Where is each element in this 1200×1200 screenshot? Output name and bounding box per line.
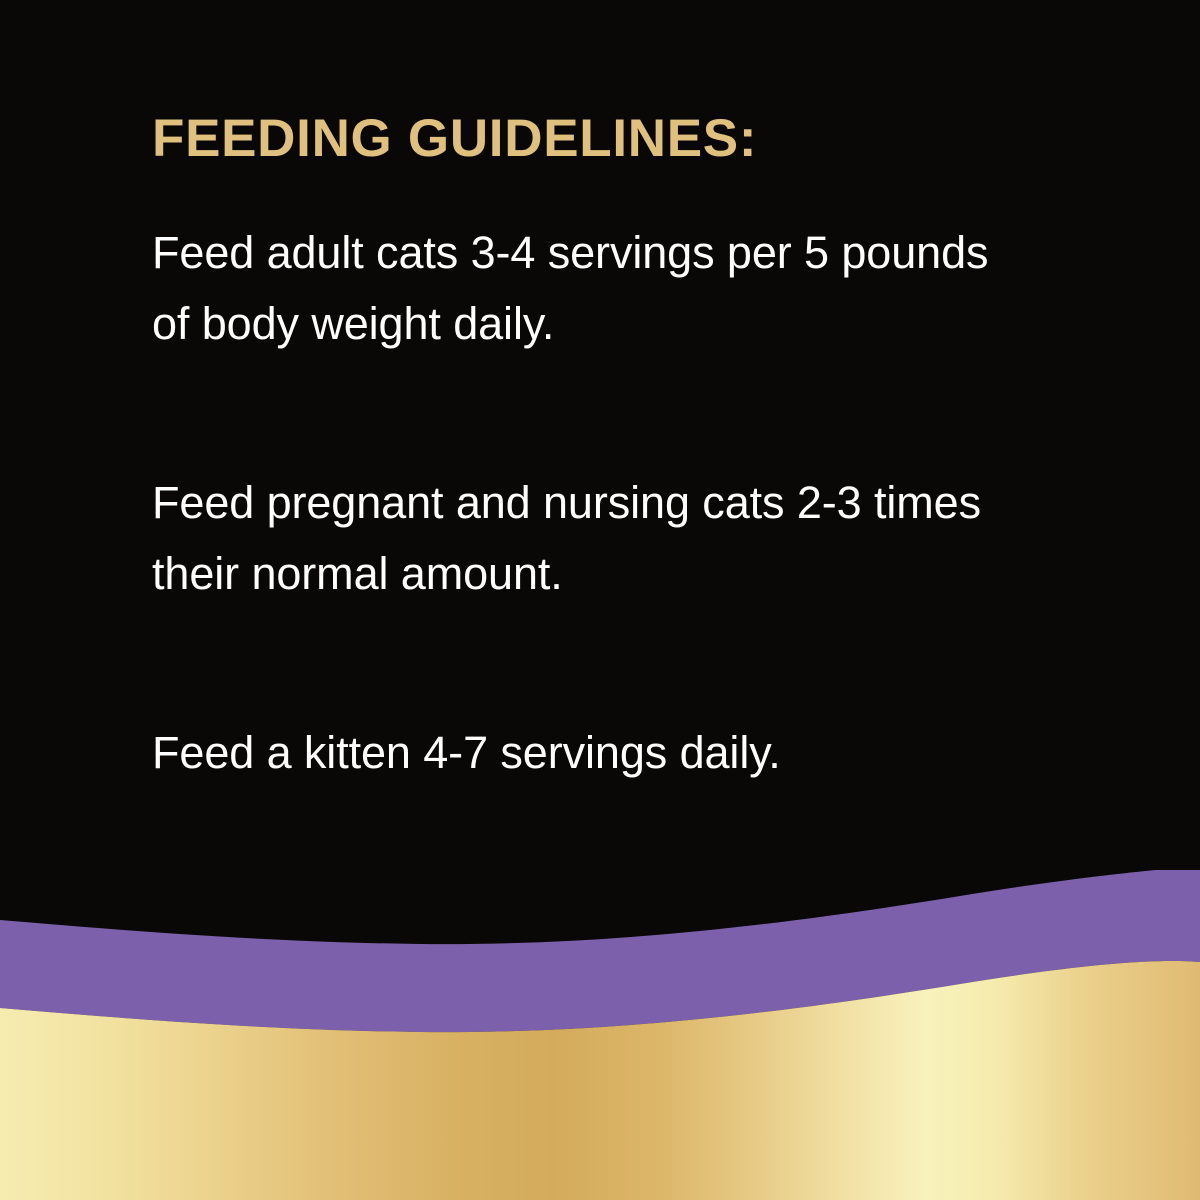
guideline-pregnant-nursing-cats: Feed pregnant and nursing cats 2-3 times… (152, 467, 1007, 609)
guidelines-content: FEEDING GUIDELINES: Feed adult cats 3-4 … (152, 108, 1052, 788)
guideline-adult-cats: Feed adult cats 3-4 servings per 5 pound… (152, 217, 1007, 359)
page-title: FEEDING GUIDELINES: (152, 108, 1052, 171)
wave-graphic (0, 870, 1200, 1200)
bottom-wave-band (0, 870, 1200, 1200)
guideline-kitten: Feed a kitten 4-7 servings daily. (152, 717, 1007, 788)
feeding-guidelines-panel: FEEDING GUIDELINES: Feed adult cats 3-4 … (0, 0, 1200, 1200)
